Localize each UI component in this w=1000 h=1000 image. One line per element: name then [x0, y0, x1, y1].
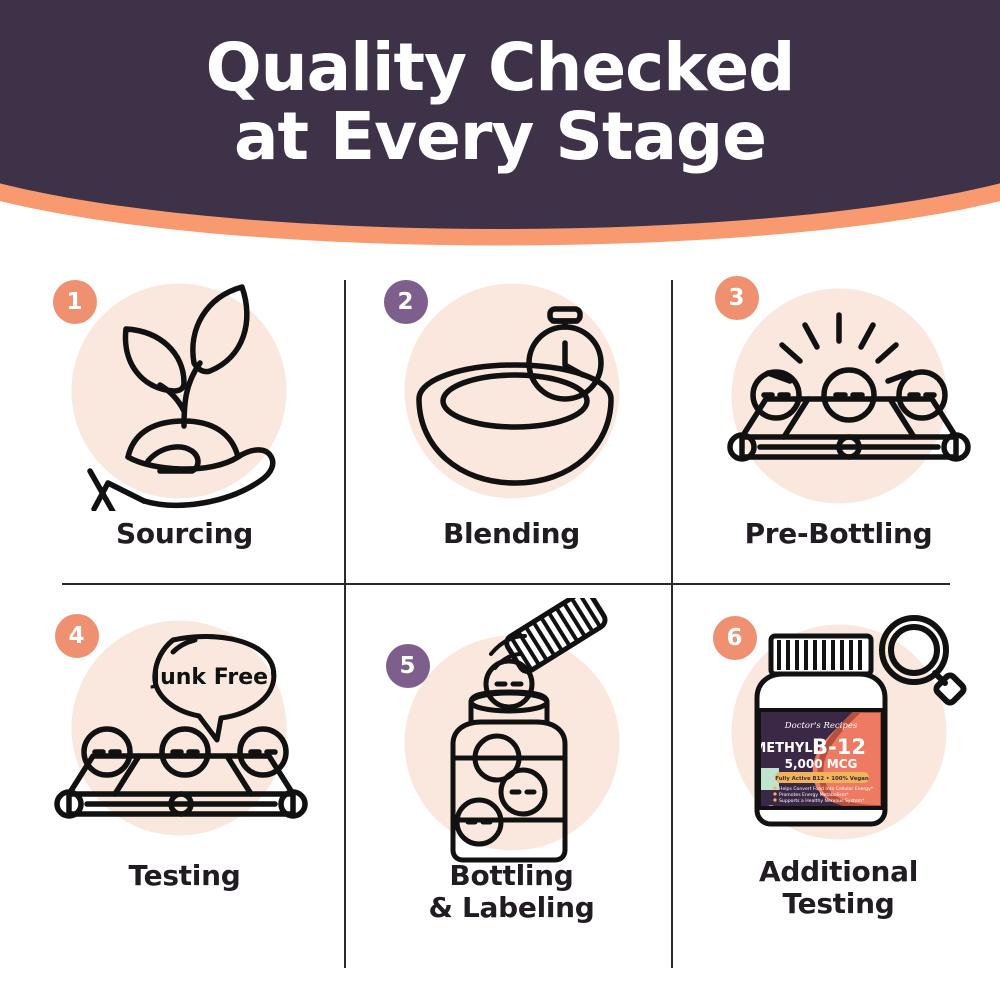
step-4-number: 4 — [68, 625, 84, 648]
step-3-number: 3 — [728, 287, 744, 310]
step-2-icon-area: 2 — [362, 266, 662, 516]
speech-bubble-text: Junk Free! — [149, 665, 277, 690]
step-5-number-badge: 5 — [386, 644, 430, 688]
step-5-number: 5 — [399, 655, 415, 678]
step-3-icon-area: 3 — [689, 266, 989, 516]
infographic-root: Quality Checked at Every Stage 1 — [0, 0, 1000, 1000]
label-benefit-1: Helps Convert Food Into Cellular Energy* — [779, 786, 874, 792]
step-1-icon-area: 1 — [35, 266, 335, 516]
step-card-1[interactable]: 1 — [18, 266, 351, 596]
step-6-label: Additional Testing — [759, 856, 918, 921]
step-6-number: 6 — [726, 627, 742, 650]
bottle-capping-icon — [387, 598, 637, 866]
step-2-label: Blending — [443, 518, 580, 550]
step-card-2[interactable]: 2 Blendi — [345, 266, 678, 596]
header-banner: Quality Checked at Every Stage — [0, 0, 1000, 260]
step-5-icon-area: 5 — [362, 598, 662, 866]
step-4-label: Testing — [129, 860, 241, 892]
label-brand: Doctor's Recipes — [783, 721, 857, 731]
step-card-4[interactable]: 4 Junk Free! — [18, 608, 351, 938]
step-6-number-badge: 6 — [713, 616, 757, 660]
magnifier-icon — [882, 618, 966, 705]
step-card-3[interactable]: 3 — [672, 266, 1000, 596]
step-5-label: Bottling & Labeling — [428, 860, 594, 925]
label-benefit-3: Supports a Healthy Nervous System* — [779, 798, 865, 804]
step-2-number: 2 — [397, 291, 413, 314]
step-card-5[interactable]: 5 — [345, 598, 678, 928]
step-2-number-badge: 2 — [384, 280, 428, 324]
step-3-label: Pre-Bottling — [745, 518, 933, 550]
step-4-number-badge: 4 — [55, 614, 99, 658]
product-label: Doctor's Recipes METHYL B-12 5,000 MCG F… — [753, 710, 883, 822]
label-benefit-2: Promotes Energy Metabolism* — [779, 792, 849, 798]
label-tagline: Fully Active B12 • 100% Vegan — [775, 776, 869, 782]
step-1-number: 1 — [66, 291, 82, 314]
step-3-number-badge: 3 — [715, 276, 759, 320]
step-1-label: Sourcing — [116, 518, 253, 550]
label-dosage: 5,000 MCG — [784, 757, 857, 771]
step-4-icon-area: 4 Junk Free! — [35, 608, 335, 858]
step-6-icon-area: 6 — [689, 606, 989, 858]
step-1-number-badge: 1 — [53, 280, 97, 324]
hand-holding-sprout-icon — [60, 271, 310, 511]
label-name-big: B-12 — [812, 735, 866, 759]
bottle-cap — [771, 636, 871, 674]
label-name-small: METHYL — [753, 741, 812, 756]
steps-grid: 1 — [0, 258, 1000, 1000]
step-card-6[interactable]: 6 — [672, 606, 1000, 936]
page-title: Quality Checked at Every Stage — [0, 34, 1000, 171]
